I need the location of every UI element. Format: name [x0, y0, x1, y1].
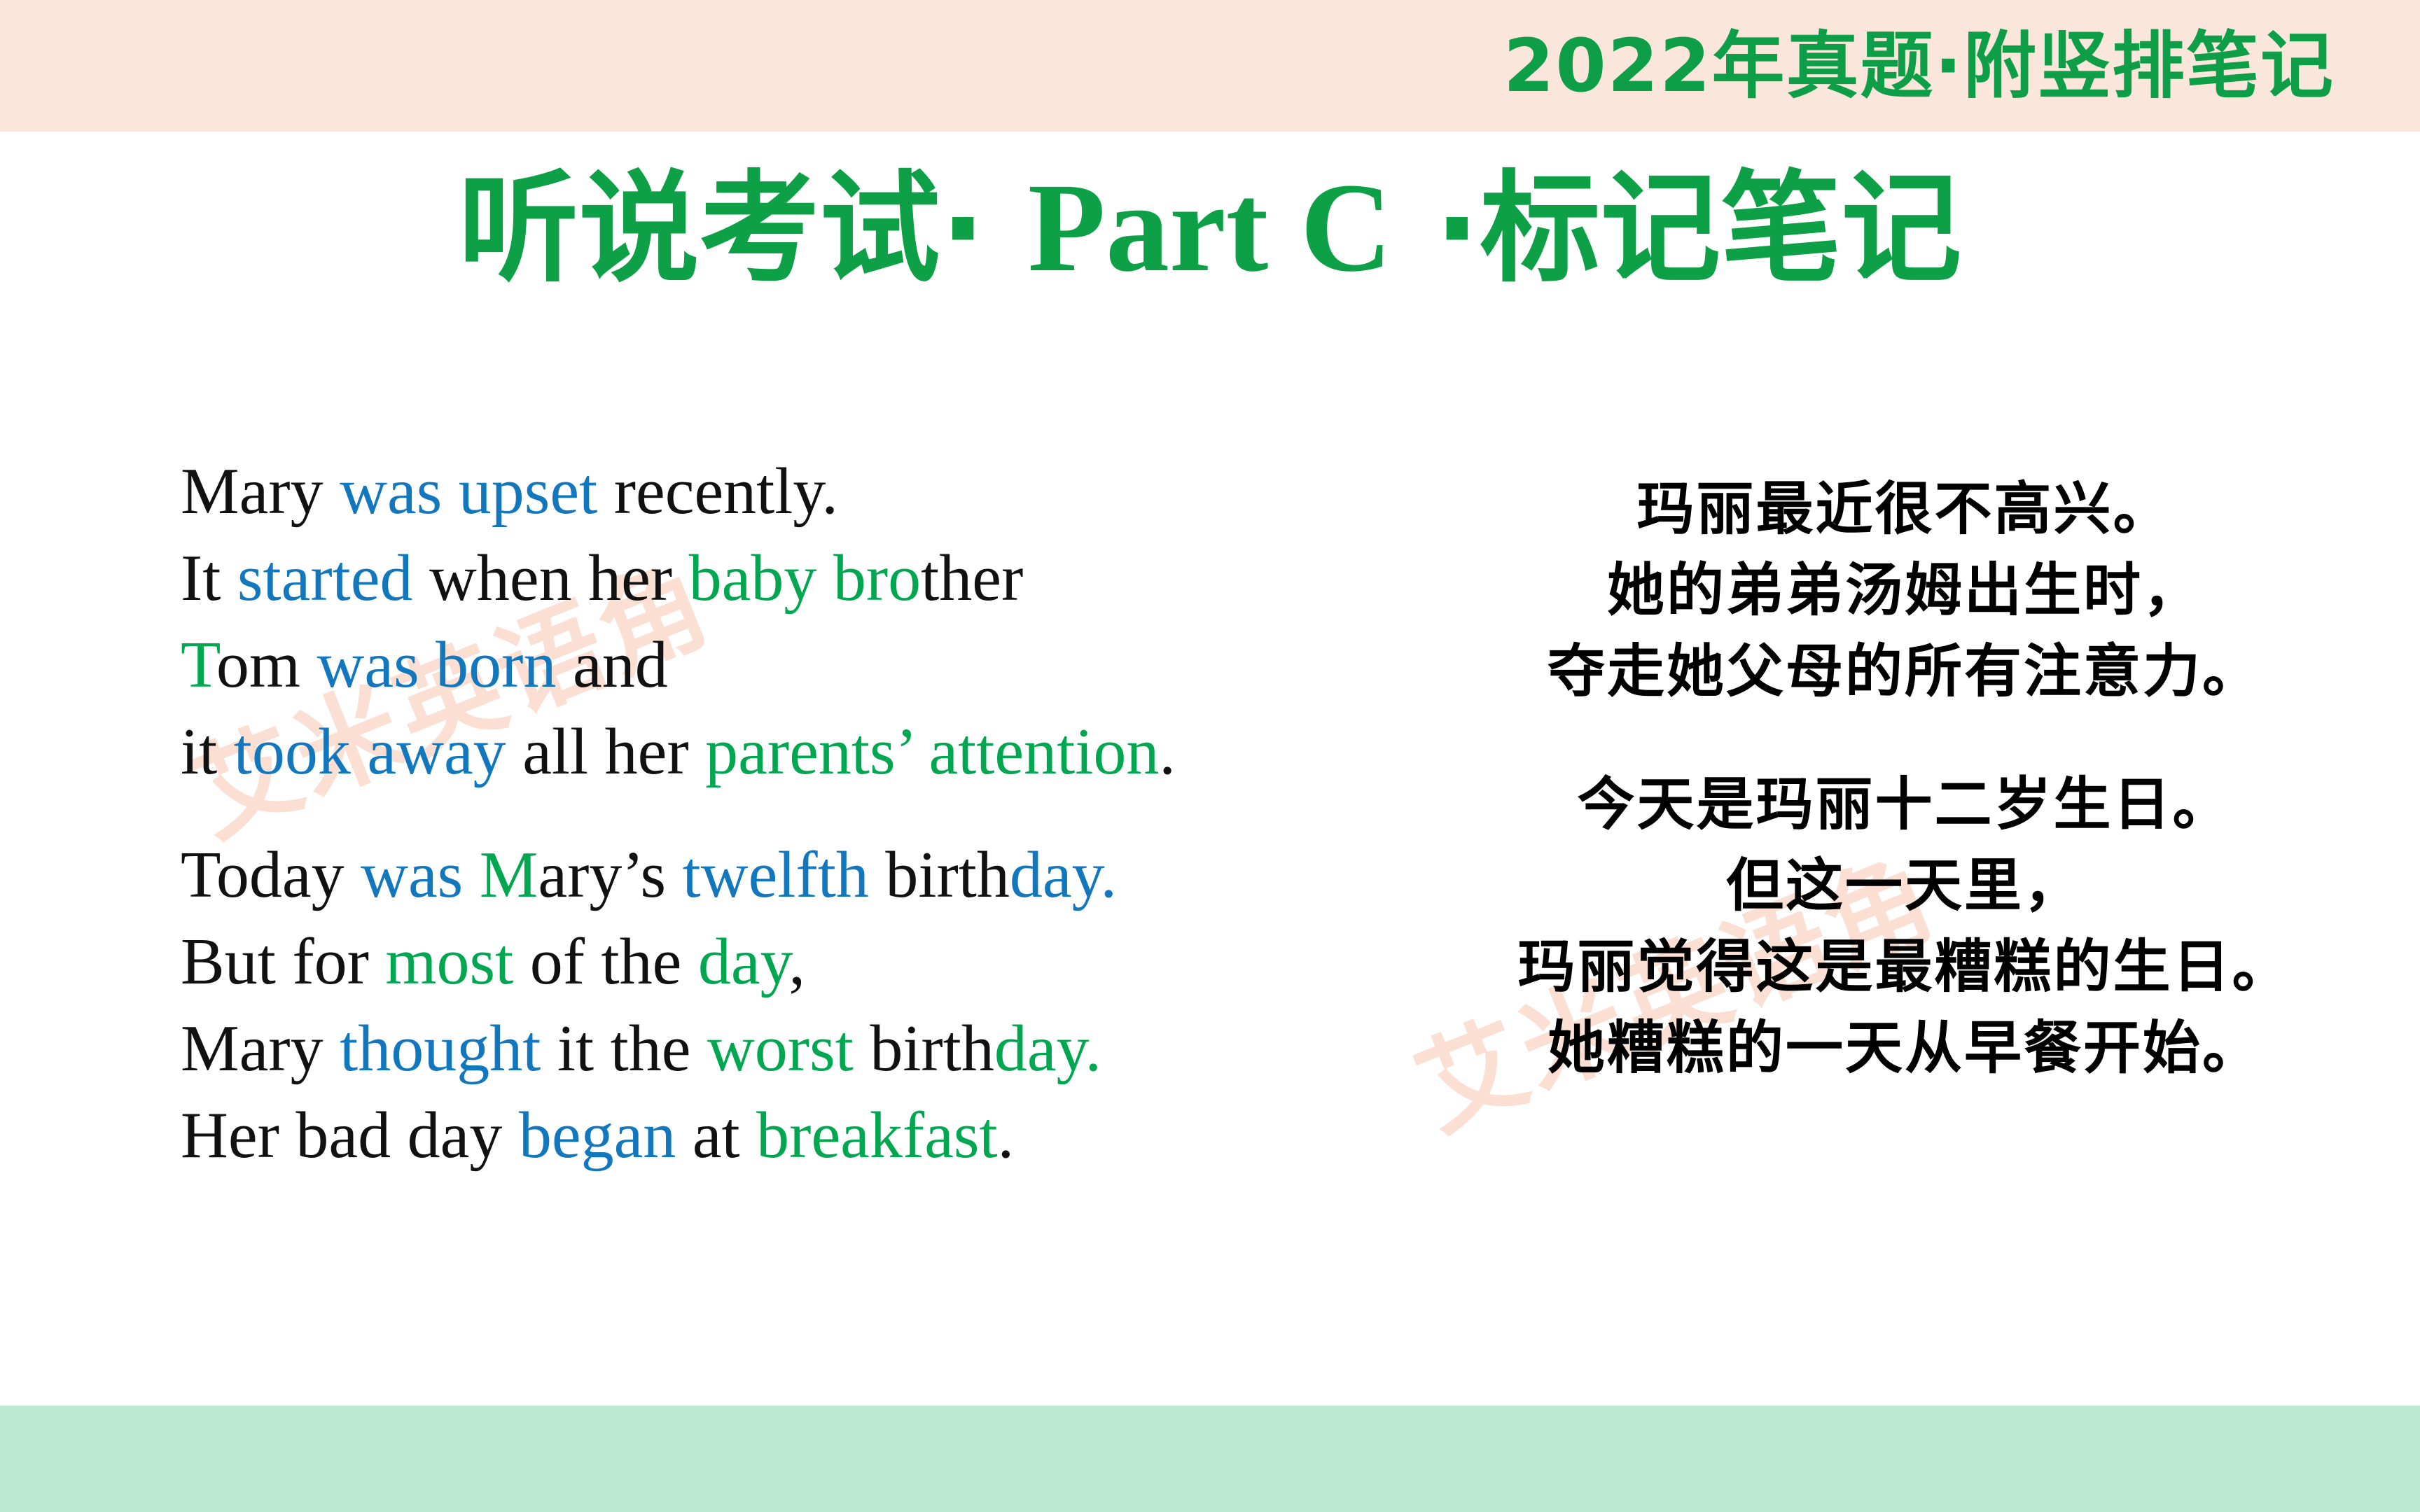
- title-part-prefix: 听说考试·: [459, 158, 1028, 299]
- text-segment-black: It: [181, 542, 237, 615]
- text-segment-black: om: [216, 629, 317, 701]
- text-segment-black: it: [181, 715, 234, 788]
- text-segment-blue: thought: [340, 1012, 541, 1085]
- top-banner: 2022年真题·附竖排笔记: [0, 0, 2420, 132]
- chinese-line: 她的弟弟汤姆出生时，: [1414, 550, 2395, 631]
- text-segment-black: birth: [869, 839, 1010, 911]
- text-segment-blue: was: [361, 839, 480, 911]
- bottom-color-band: [0, 1406, 2420, 1512]
- text-segment-green: baby bro: [689, 542, 922, 615]
- english-paragraph: Mary was upset recently.It started when …: [181, 448, 1413, 795]
- eng-line-5: Today was Mary’s twelfth birthday.: [181, 832, 1413, 918]
- text-segment-green: day: [698, 925, 789, 998]
- chinese-paragraph: 今天是玛丽十二岁生日。但这一天里，玛丽觉得这是最糟糕的生日。她糟糕的一天从早餐开…: [1414, 764, 2395, 1089]
- text-segment-green: worst: [707, 1012, 854, 1085]
- text-segment-blue: was upset: [340, 455, 597, 528]
- eng-line-7: Mary thought it the worst birthday.: [181, 1005, 1413, 1092]
- text-segment-green: T: [181, 629, 216, 701]
- text-segment-blue: was born: [317, 629, 556, 701]
- text-segment-blue: day.: [1010, 839, 1117, 911]
- chinese-line: 她糟糕的一天从早餐开始。: [1414, 1008, 2395, 1089]
- text-segment-black: when her: [412, 542, 688, 615]
- text-segment-black: of the: [513, 925, 698, 998]
- chinese-line: 但这一天里，: [1414, 846, 2395, 927]
- text-segment-black: ther: [921, 542, 1023, 615]
- title-part-suffix: ·标记笔记: [1392, 158, 1961, 299]
- english-passage: Mary was upset recently.It started when …: [181, 448, 1413, 1179]
- text-segment-black: But for: [181, 925, 385, 998]
- text-segment-green: M: [480, 839, 538, 911]
- text-segment-black: ary’s: [538, 839, 682, 911]
- text-segment-black: at: [676, 1099, 756, 1172]
- text-segment-black: it the: [541, 1012, 707, 1085]
- eng-line-1: Mary was upset recently.: [181, 448, 1413, 535]
- text-segment-blue: started: [237, 542, 413, 615]
- chinese-line: 夺走她父母的所有注意力。: [1414, 631, 2395, 713]
- text-segment-black: Today: [181, 839, 361, 911]
- chinese-paragraph: 玛丽最近很不高兴。她的弟弟汤姆出生时，夺走她父母的所有注意力。: [1414, 469, 2395, 713]
- eng-line-4: it took away all her parents’ attention.: [181, 708, 1413, 795]
- text-segment-black: all her: [506, 715, 705, 788]
- text-segment-black: Mary: [181, 1012, 340, 1085]
- text-segment-black: .: [998, 1099, 1015, 1172]
- title-part-latin: Part C: [1028, 157, 1393, 298]
- chinese-line: 玛丽最近很不高兴。: [1414, 469, 2395, 550]
- text-segment-black: recently.: [597, 455, 838, 528]
- text-segment-green: most: [385, 925, 513, 998]
- eng-line-8: Her bad day began at breakfast.: [181, 1092, 1413, 1179]
- text-segment-green: breakfast: [756, 1099, 997, 1172]
- chinese-line: 玛丽觉得这是最糟糕的生日。: [1414, 927, 2395, 1008]
- text-segment-blue: began: [519, 1099, 676, 1172]
- chinese-translation: 玛丽最近很不高兴。她的弟弟汤姆出生时，夺走她父母的所有注意力。今天是玛丽十二岁生…: [1414, 469, 2395, 1089]
- text-segment-blue: took away: [234, 715, 506, 788]
- text-segment-green: parents’ attention: [705, 715, 1159, 788]
- banner-title-text: 2022年真题·附竖排笔记: [1503, 29, 2335, 102]
- eng-line-2: It started when her baby brother: [181, 535, 1413, 622]
- eng-line-6: But for most of the day,: [181, 918, 1413, 1005]
- page-title: 听说考试· Part C ·标记笔记: [0, 148, 2420, 308]
- text-segment-blue: twelfth: [683, 839, 869, 911]
- text-segment-black: Her bad day: [181, 1099, 519, 1172]
- text-segment-black: birth: [854, 1012, 994, 1085]
- text-segment-black: and: [556, 629, 667, 701]
- english-paragraph: Today was Mary’s twelfth birthday.But fo…: [181, 832, 1413, 1179]
- text-segment-green: day.: [994, 1012, 1101, 1085]
- text-segment-black: ,: [789, 925, 806, 998]
- eng-line-3: Tom was born and: [181, 622, 1413, 708]
- chinese-line: 今天是玛丽十二岁生日。: [1414, 764, 2395, 846]
- text-segment-black: .: [1159, 715, 1176, 788]
- text-segment-black: Mary: [181, 455, 340, 528]
